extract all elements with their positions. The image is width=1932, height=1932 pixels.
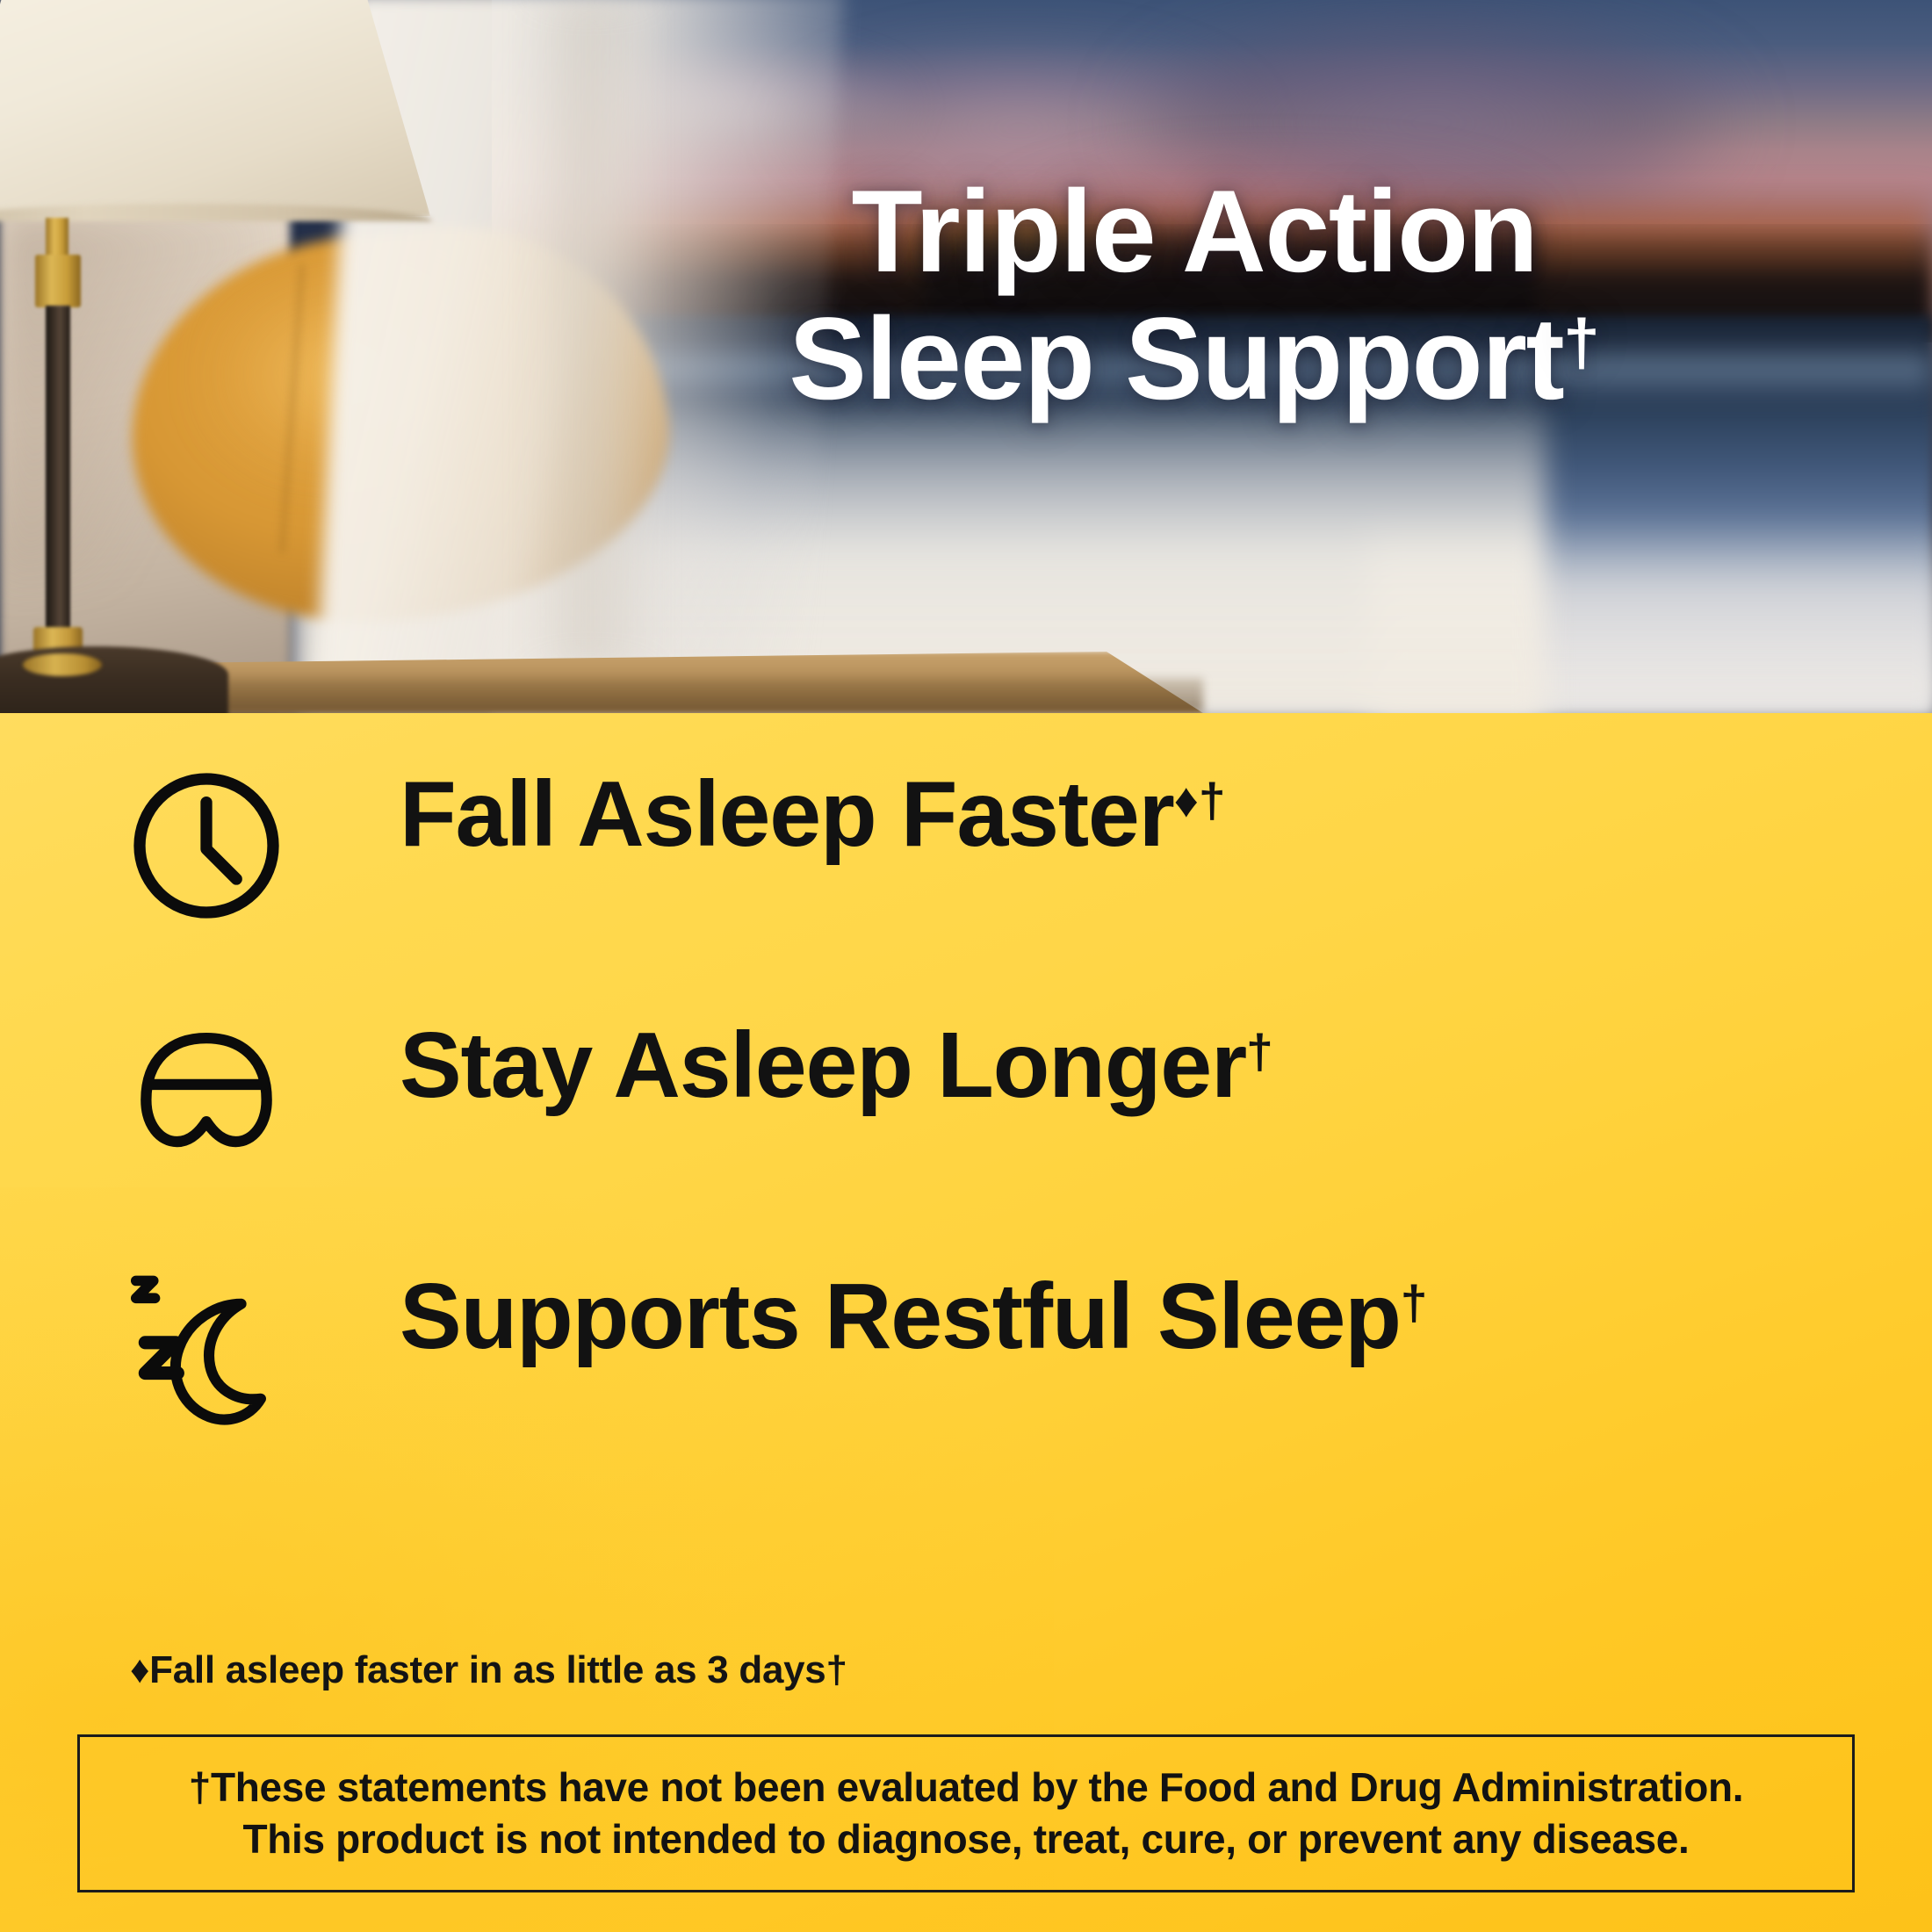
sleep-mask-icon [123,1013,290,1180]
benefit-label: Fall Asleep Faster♦† [290,755,1449,869]
benefit-label: Stay Asleep Longer† [290,1006,1449,1120]
benefit-label: Supports Restful Sleep† [290,1258,1449,1371]
product-benefit-poster: Triple Action Sleep Support† Fall Asleep… [0,0,1932,1932]
fda-disclaimer-line-2: This product is not intended to diagnose… [243,1816,1690,1862]
headline-line-1: Triple Action [851,167,1537,297]
moon-zzz-icon [123,1265,290,1431]
hero-bedroom-photo: Triple Action Sleep Support† [0,0,1932,713]
benefit-label-markers: † [1401,1275,1428,1330]
fda-disclaimer-line-1: †These statements have not been evaluate… [189,1764,1743,1810]
benefit-icon-cell [0,1258,290,1431]
benefit-icon-cell [0,755,290,929]
clock-icon [123,762,290,929]
footnote-diamond: ♦Fall asleep faster in as little as 3 da… [130,1650,847,1690]
page-title: Triple Action Sleep Support† [509,169,1879,423]
benefit-label-text: Fall Asleep Faster [400,762,1174,866]
benefit-label-markers: † [1246,1024,1273,1078]
benefits-list: Fall Asleep Faster♦† Stay Asleep Longer† [0,755,1932,1509]
lamp-neck [46,218,68,258]
lamp-base-plate [23,653,102,676]
lamp-stem [46,306,70,643]
headline-line-2: Sleep Support [789,294,1563,424]
benefit-item-fall-asleep-faster: Fall Asleep Faster♦† [0,755,1932,1006]
lamp-shade [0,0,430,216]
benefit-item-stay-asleep-longer: Stay Asleep Longer† [0,1006,1932,1258]
fda-disclaimer-text: †These statements have not been evaluate… [169,1762,1763,1865]
benefit-item-supports-restful-sleep: Supports Restful Sleep† [0,1258,1932,1509]
benefit-label-text: Supports Restful Sleep [400,1265,1401,1368]
lamp-collar [35,255,81,307]
benefits-panel: Fall Asleep Faster♦† Stay Asleep Longer† [0,713,1932,1932]
headline-dagger: † [1563,306,1599,378]
benefit-label-text: Stay Asleep Longer [400,1013,1246,1117]
benefit-icon-cell [0,1006,290,1180]
benefit-label-markers: ♦† [1174,773,1226,827]
fda-disclaimer-box: †These statements have not been evaluate… [77,1734,1855,1892]
